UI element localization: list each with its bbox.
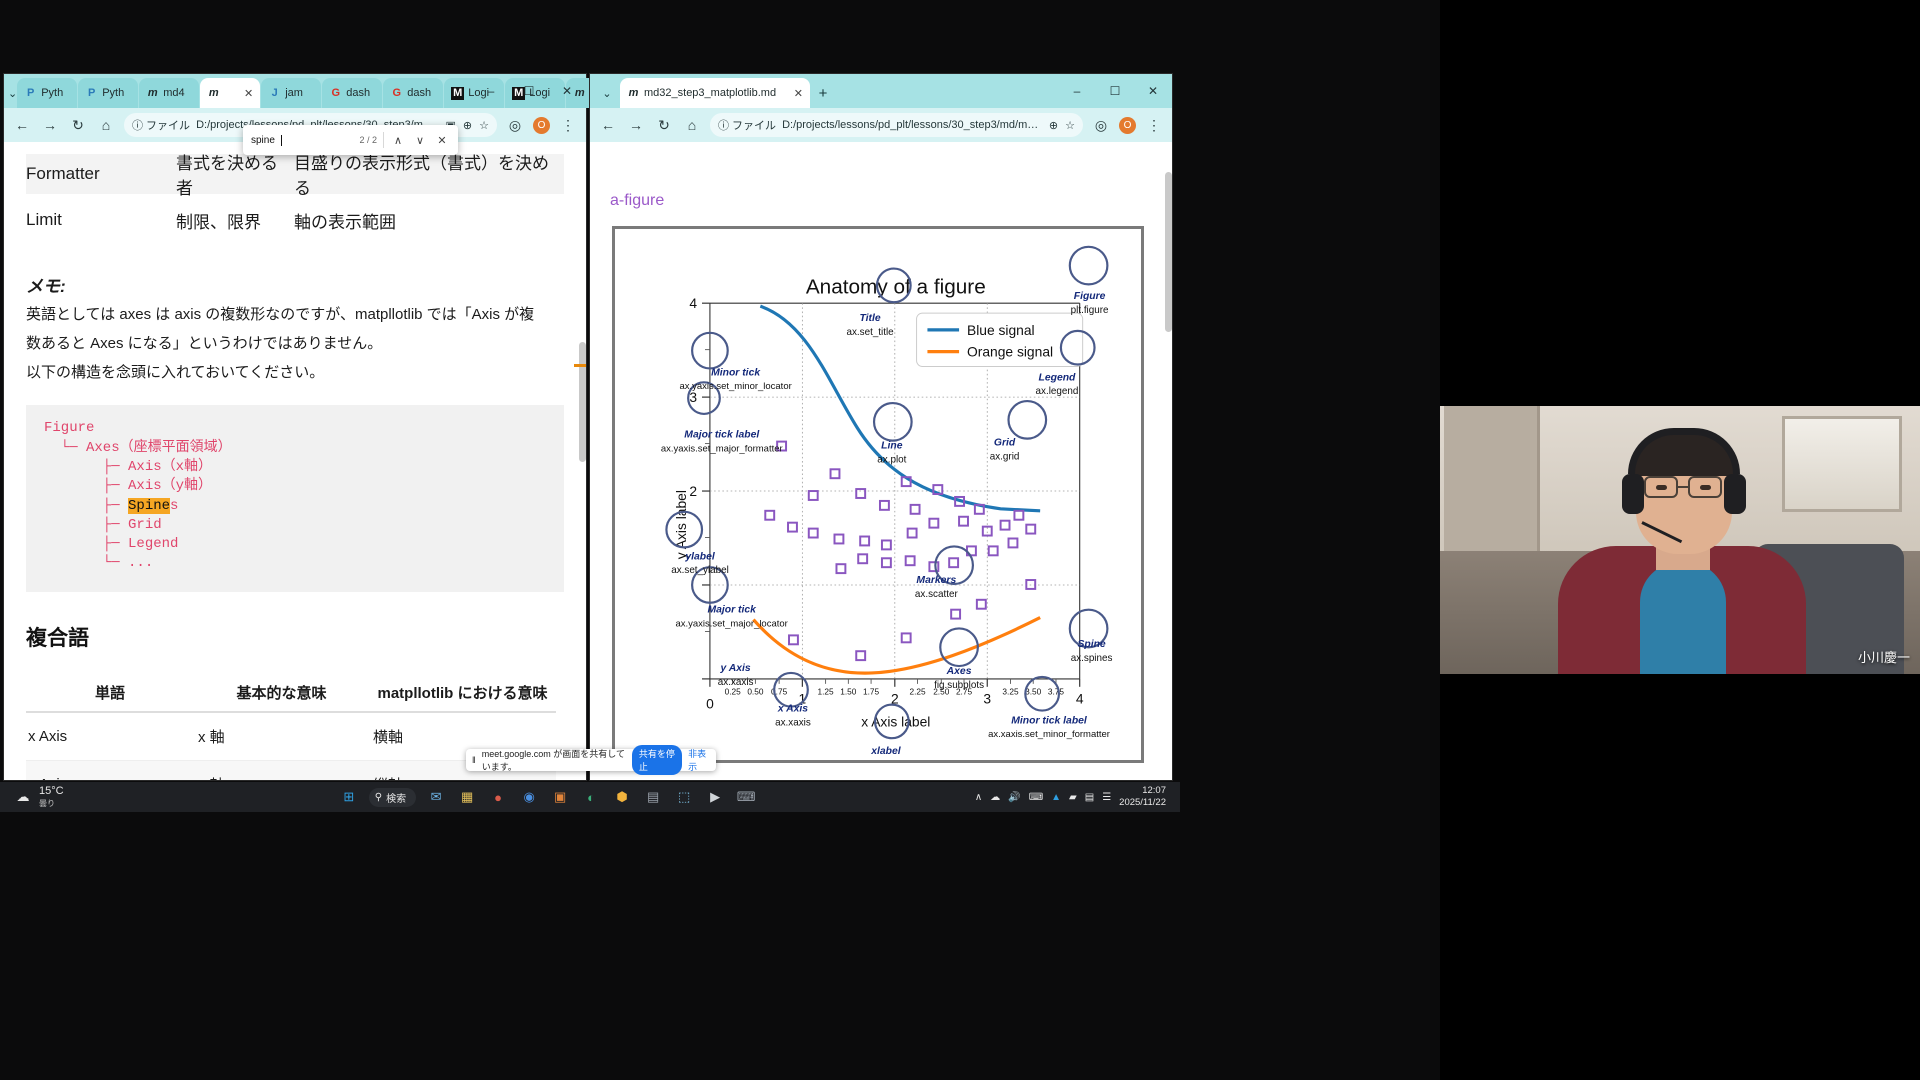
svg-text:Axes: Axes bbox=[946, 666, 972, 677]
python-icon: P bbox=[85, 87, 98, 100]
markdown-icon: m bbox=[146, 87, 159, 100]
action-center-icon[interactable]: ☰ bbox=[1102, 792, 1111, 803]
svg-text:x Axis: x Axis bbox=[777, 704, 808, 715]
forward-icon[interactable]: → bbox=[40, 115, 60, 135]
markdown-icon: m bbox=[207, 87, 220, 100]
google-icon: G bbox=[390, 87, 403, 100]
find-in-page-bar[interactable]: spine 2 / 2 ∧ ∨ ✕ bbox=[243, 125, 458, 155]
svg-text:ylabel: ylabel bbox=[684, 551, 716, 562]
minimize-button[interactable]: – bbox=[472, 74, 510, 108]
chart-title: Anatomy of a figure bbox=[806, 275, 986, 298]
svg-text:ax.yaxis.set_major_formatter: ax.yaxis.set_major_formatter bbox=[661, 443, 783, 454]
table-header-row: 単語 基本的な意味 matpllotlib における意味 bbox=[26, 674, 556, 712]
browser-tab[interactable]: J jam bbox=[261, 78, 321, 108]
right-page-content: a-figure bbox=[590, 142, 1172, 780]
tab-label: Pyth bbox=[102, 87, 124, 99]
anatomy-figure: 4 3 2 bbox=[612, 226, 1144, 763]
window-controls: – ☐ ✕ bbox=[472, 74, 586, 108]
clock-widget[interactable]: 12:07 2025/11/22 bbox=[1119, 785, 1170, 809]
screen-share-bar: ‖ meet.google.com が画面を共有しています。 共有を停止 非表示 bbox=[466, 749, 716, 771]
legend-entry-blue: Blue signal bbox=[967, 322, 1035, 338]
svg-text:ax.xaxis.set_minor_formatter: ax.xaxis.set_minor_formatter bbox=[988, 729, 1110, 740]
zoom-icon[interactable]: ⊕ bbox=[1049, 119, 1058, 132]
left-tabstrip: ⌄ P Pyth P Pyth m md4 m ✕ J jam bbox=[4, 74, 586, 108]
legend-entry-orange: Orange signal bbox=[967, 344, 1053, 360]
file-scheme-badge: ⓘ ファイル bbox=[132, 117, 190, 133]
taskbar-app-icon[interactable]: ⌨ bbox=[735, 786, 757, 808]
close-window-button[interactable]: ✕ bbox=[548, 74, 586, 108]
chart-legend: Blue signal Orange signal bbox=[917, 313, 1083, 366]
browser-tab[interactable]: P Pyth bbox=[78, 78, 138, 108]
svg-text:ax.grid: ax.grid bbox=[990, 451, 1020, 462]
code-line: ├─ Axis（x軸） bbox=[44, 459, 212, 475]
ime-indicator-icon[interactable]: ▲ bbox=[1051, 792, 1061, 803]
svg-text:Markers: Markers bbox=[916, 575, 956, 586]
maximize-button[interactable]: ☐ bbox=[1096, 74, 1134, 108]
minimize-button[interactable]: – bbox=[1058, 74, 1096, 108]
background-door bbox=[1444, 406, 1540, 570]
clock-date: 2025/11/22 bbox=[1119, 797, 1166, 809]
back-icon[interactable]: ← bbox=[12, 115, 32, 135]
compound-words-heading: 複合語 bbox=[26, 622, 564, 652]
x-axis-label: x Axis label bbox=[861, 713, 930, 729]
memo-line: 数あると Axes になる」というわけではありません。 bbox=[26, 333, 564, 355]
code-line: ├─ Legend bbox=[44, 536, 178, 552]
svg-text:0.25: 0.25 bbox=[725, 687, 742, 697]
memo-line: 以下の構造を念頭に入れておいてください。 bbox=[26, 362, 564, 384]
tab-label: md32_step3_matplotlib.md bbox=[644, 87, 776, 99]
svg-text:ax.yaxis.set_minor_locator: ax.yaxis.set_minor_locator bbox=[679, 381, 791, 392]
tab-close-icon[interactable]: ✕ bbox=[794, 87, 803, 100]
plt-meaning-cell: 目盛りの表示形式（書式）を決める bbox=[294, 149, 564, 199]
taskbar-app-icon[interactable]: ⬢ bbox=[611, 786, 633, 808]
browser-menu-icon[interactable]: ⋮ bbox=[558, 115, 578, 135]
profile-avatar[interactable]: O bbox=[1119, 117, 1136, 134]
cloud-sync-icon[interactable]: ☁ bbox=[990, 792, 1000, 803]
weather-description: 曇り bbox=[39, 798, 64, 809]
col-header-word: 単語 bbox=[26, 674, 194, 712]
meaning-cell: 書式を決める者 bbox=[176, 149, 294, 199]
svg-text:Minor tick: Minor tick bbox=[711, 367, 761, 378]
cell-basic: x 軸 bbox=[194, 712, 369, 761]
find-next-icon[interactable]: ∨ bbox=[412, 134, 428, 147]
person-eye-right bbox=[1700, 485, 1711, 490]
memo-line: 英語としては axes は axis の複数形なのですが、matpllotlib… bbox=[26, 304, 564, 326]
taskbar-app-icon[interactable]: ▶ bbox=[704, 786, 726, 808]
find-close-icon[interactable]: ✕ bbox=[434, 134, 450, 147]
svg-text:Grid: Grid bbox=[994, 438, 1016, 449]
svg-text:xlabel: xlabel bbox=[870, 746, 902, 757]
term-cell: Limit bbox=[26, 210, 176, 230]
taskbar-app-icon[interactable]: ✉ bbox=[425, 786, 447, 808]
x-tick-label: 3 bbox=[983, 691, 991, 707]
svg-text:y Axis: y Axis bbox=[720, 663, 751, 674]
cloud-icon: ☁ bbox=[12, 786, 34, 808]
code-line-prefix: ├─ bbox=[44, 498, 128, 514]
svg-text:ax.scatter: ax.scatter bbox=[915, 589, 959, 600]
browser-tab-active[interactable]: m md32_step3_matplotlib.md ✕ bbox=[620, 78, 810, 108]
svg-text:plt.figure: plt.figure bbox=[1071, 305, 1109, 316]
share-status-text: meet.google.com が画面を共有しています。 bbox=[482, 747, 626, 773]
stop-sharing-button[interactable]: 共有を停止 bbox=[632, 745, 682, 775]
tab-label: dash bbox=[346, 87, 370, 99]
file-scheme-badge: ⓘ ファイル bbox=[718, 117, 776, 133]
x-tick-label: 4 bbox=[1076, 691, 1084, 707]
markdown-document: Formatter 書式を決める者 目盛りの表示形式（書式）を決める Limit… bbox=[4, 142, 586, 780]
x-tick-label: 0 bbox=[706, 696, 714, 712]
svg-text:Major tick: Major tick bbox=[707, 605, 757, 616]
svg-text:Legend: Legend bbox=[1039, 372, 1077, 383]
clock-time: 12:07 bbox=[1119, 785, 1166, 797]
browser-tab[interactable]: G dash bbox=[322, 78, 382, 108]
maximize-button[interactable]: ☐ bbox=[510, 74, 548, 108]
code-line: └─ ... bbox=[44, 555, 153, 571]
svg-text:Spine: Spine bbox=[1077, 639, 1105, 650]
svg-text:Line: Line bbox=[881, 441, 903, 452]
tab-list-dropdown-icon[interactable]: ⌄ bbox=[594, 78, 620, 108]
taskbar-search-box[interactable]: ⚲ 検索 bbox=[369, 788, 416, 807]
meaning-cell: 制限、限界 bbox=[176, 208, 294, 233]
find-input[interactable]: spine bbox=[251, 135, 275, 146]
taskbar-app-icon[interactable]: ● bbox=[487, 786, 509, 808]
svg-text:ax.xaxis: ax.xaxis bbox=[775, 717, 811, 728]
anatomy-figure-svg: 4 3 2 bbox=[615, 229, 1141, 760]
screen-root: ⌄ P Pyth P Pyth m md4 m ✕ J jam bbox=[0, 0, 1920, 1080]
search-highlight: Spine bbox=[128, 498, 170, 514]
col-header-plt: matpllotlib における意味 bbox=[369, 674, 556, 712]
browser-menu-icon[interactable]: ⋮ bbox=[1144, 115, 1164, 135]
windows-taskbar: ☁ 15°C 曇り ⊞ ⚲ 検索 ✉ ▦ ● ◉ ▣ ◐ ⬢ ▤ ⬚ ▶ ⌨ ∧ bbox=[0, 782, 1180, 812]
code-line-suffix: s bbox=[170, 498, 178, 514]
svg-text:3.50: 3.50 bbox=[1025, 687, 1042, 697]
home-icon[interactable]: ⌂ bbox=[96, 115, 116, 135]
tab-label: md4 bbox=[163, 87, 184, 99]
network-icon[interactable]: ▰ bbox=[1069, 792, 1077, 803]
vertical-scrollbar-thumb[interactable] bbox=[579, 342, 586, 462]
right-toolbar: ← → ↻ ⌂ ⓘ ファイル D:/projects/lessons/pd_pl… bbox=[590, 108, 1172, 142]
logitech-icon: M bbox=[451, 87, 464, 100]
cell-word: x Axis bbox=[26, 712, 194, 761]
cell-word: y Axis bbox=[26, 760, 194, 780]
person-shirt bbox=[1640, 562, 1726, 674]
close-window-button[interactable]: ✕ bbox=[1134, 74, 1172, 108]
taskbar-app-icon[interactable]: ▤ bbox=[642, 786, 664, 808]
taskbar-app-icon[interactable]: ⬚ bbox=[673, 786, 695, 808]
search-icon: ⚲ bbox=[375, 792, 382, 803]
left-page-content: Formatter 書式を決める者 目盛りの表示形式（書式）を決める Limit… bbox=[4, 142, 586, 780]
svg-text:ax.yaxis.set_major_locator: ax.yaxis.set_major_locator bbox=[676, 618, 788, 629]
headset-earcup-right bbox=[1724, 474, 1746, 514]
svg-text:1.50: 1.50 bbox=[840, 687, 857, 697]
right-browser-window: ⌄ m md32_step3_matplotlib.md ✕ + – ☐ ✕ ←… bbox=[590, 74, 1172, 780]
table-row: Formatter 書式を決める者 目盛りの表示形式（書式）を決める bbox=[26, 154, 564, 194]
browser-tab-active[interactable]: m ✕ bbox=[200, 78, 260, 108]
taskbar-app-icon[interactable]: ◐ bbox=[580, 786, 602, 808]
show-hidden-icons-icon[interactable]: ∧ bbox=[975, 792, 982, 803]
svg-text:1.75: 1.75 bbox=[863, 687, 880, 697]
bookmark-star-icon[interactable]: ☆ bbox=[1065, 119, 1075, 132]
plt-meaning-cell: 軸の表示範囲 bbox=[294, 208, 564, 233]
reload-icon[interactable]: ↻ bbox=[68, 115, 88, 135]
address-bar[interactable]: ⓘ ファイル D:/projects/lessons/pd_plt/lesson… bbox=[710, 113, 1083, 137]
browser-tab[interactable]: m md4 bbox=[139, 78, 199, 108]
keyboard-icon[interactable]: ⌨ bbox=[1029, 792, 1043, 803]
weather-widget[interactable]: ☁ 15°C 曇り bbox=[0, 785, 120, 808]
start-button-icon[interactable]: ⊞ bbox=[338, 786, 360, 808]
svg-text:ax.xaxis: ax.xaxis bbox=[718, 677, 754, 688]
browser-tab[interactable]: P Pyth bbox=[17, 78, 77, 108]
svg-text:Minor tick label: Minor tick label bbox=[1011, 715, 1088, 726]
taskbar-app-icon[interactable]: ▣ bbox=[549, 786, 571, 808]
screenshot-icon[interactable]: ◎ bbox=[1091, 115, 1111, 135]
col-header-basic: 基本的な意味 bbox=[194, 674, 369, 712]
bookmark-star-icon[interactable]: ☆ bbox=[479, 119, 489, 132]
jamboard-icon: J bbox=[268, 87, 281, 100]
tab-label: dash bbox=[407, 87, 431, 99]
person-eye-left bbox=[1656, 485, 1667, 490]
anchor-link-a-figure[interactable]: a-figure bbox=[610, 192, 664, 210]
video-call-panel: 小川慶一 bbox=[1440, 0, 1920, 1080]
term-cell: Formatter bbox=[26, 164, 176, 184]
svg-text:ax.plot: ax.plot bbox=[877, 454, 906, 465]
google-icon: G bbox=[329, 87, 342, 100]
right-tabstrip: ⌄ m md32_step3_matplotlib.md ✕ + – ☐ ✕ bbox=[590, 74, 1172, 108]
browser-tab[interactable]: G dash bbox=[383, 78, 443, 108]
window-controls: – ☐ ✕ bbox=[1058, 74, 1172, 108]
zoom-icon[interactable]: ⊕ bbox=[463, 119, 472, 132]
find-match-marker bbox=[574, 364, 586, 367]
taskbar-app-icon[interactable]: ▦ bbox=[456, 786, 478, 808]
svg-text:0.50: 0.50 bbox=[747, 687, 764, 697]
svg-text:ax.set_title: ax.set_title bbox=[846, 327, 894, 338]
vertical-scrollbar-thumb[interactable] bbox=[1165, 172, 1172, 332]
cell-basic: y 軸 bbox=[194, 760, 369, 780]
screenshot-icon[interactable]: ◎ bbox=[505, 115, 525, 135]
battery-icon[interactable]: ▤ bbox=[1085, 792, 1094, 803]
svg-text:3.25: 3.25 bbox=[1002, 687, 1019, 697]
svg-text:3.75: 3.75 bbox=[1048, 687, 1065, 697]
python-icon: P bbox=[24, 87, 37, 100]
taskbar-app-icon[interactable]: ◉ bbox=[518, 786, 540, 808]
code-line: └─ Axes（座標平面領域） bbox=[44, 440, 232, 456]
svg-text:1.25: 1.25 bbox=[818, 687, 835, 697]
y-tick-label: 2 bbox=[689, 483, 697, 499]
home-icon[interactable]: ⌂ bbox=[682, 115, 702, 135]
code-line: Figure bbox=[44, 420, 94, 436]
participant-name-label: 小川慶一 bbox=[1858, 647, 1910, 666]
tab-label: Pyth bbox=[41, 87, 63, 99]
taskbar-center: ⊞ ⚲ 検索 ✉ ▦ ● ◉ ▣ ◐ ⬢ ▤ ⬚ ▶ ⌨ bbox=[120, 786, 975, 808]
svg-text:Figure: Figure bbox=[1074, 291, 1106, 302]
svg-text:ax.legend: ax.legend bbox=[1036, 386, 1079, 397]
reload-icon[interactable]: ↻ bbox=[654, 115, 674, 135]
find-previous-icon[interactable]: ∧ bbox=[390, 134, 406, 147]
structure-code-block: Figure └─ Axes（座標平面領域） ├─ Axis（x軸） ├─ Ax… bbox=[26, 405, 564, 592]
tab-close-icon[interactable]: ✕ bbox=[244, 87, 253, 100]
profile-avatar[interactable]: O bbox=[533, 117, 550, 134]
tab-label: jam bbox=[285, 87, 303, 99]
weather-temperature: 15°C bbox=[39, 785, 64, 797]
drag-handle-icon[interactable]: ‖ bbox=[472, 755, 476, 765]
search-placeholder: 検索 bbox=[386, 790, 406, 805]
svg-text:Title: Title bbox=[860, 313, 881, 324]
svg-text:ax.spines: ax.spines bbox=[1071, 653, 1113, 664]
headset-earcup-left bbox=[1622, 474, 1644, 514]
divider bbox=[383, 132, 384, 148]
svg-text:ax.set_ylabel: ax.set_ylabel bbox=[671, 565, 729, 576]
svg-text:2.25: 2.25 bbox=[909, 687, 926, 697]
participant-video-tile[interactable]: 小川慶一 bbox=[1440, 406, 1920, 674]
address-bar-url: D:/projects/lessons/pd_plt/lessons/30_st… bbox=[782, 119, 1043, 131]
background-window bbox=[1782, 416, 1902, 512]
back-icon[interactable]: ← bbox=[598, 115, 618, 135]
svg-text:Major tick label: Major tick label bbox=[684, 430, 760, 441]
y-axis-label: y Axis label bbox=[673, 490, 689, 559]
new-tab-button[interactable]: + bbox=[811, 78, 835, 108]
volume-icon[interactable]: 🔊 bbox=[1008, 792, 1020, 803]
markdown-icon: m bbox=[627, 87, 640, 100]
code-line: ├─ Grid bbox=[44, 517, 162, 533]
taskbar-tray: ∧ ☁ 🔊 ⌨ ▲ ▰ ▤ ☰ 12:07 2025/11/22 bbox=[975, 785, 1180, 809]
forward-icon[interactable]: → bbox=[626, 115, 646, 135]
glasses-bridge bbox=[1678, 486, 1688, 488]
svg-text:fig.subplots: fig.subplots bbox=[934, 680, 984, 691]
text-caret bbox=[281, 135, 282, 146]
table-row: Limit 制限、限界 軸の表示範囲 bbox=[26, 200, 564, 240]
find-match-count: 2 / 2 bbox=[359, 135, 377, 145]
tab-list-dropdown-icon[interactable]: ⌄ bbox=[8, 78, 17, 108]
memo-heading: メモ: bbox=[26, 272, 564, 297]
code-line: ├─ Axis（y軸） bbox=[44, 478, 212, 494]
left-browser-window: ⌄ P Pyth P Pyth m md4 m ✕ J jam bbox=[4, 74, 586, 780]
hide-button[interactable]: 非表示 bbox=[688, 747, 710, 773]
y-tick-label: 4 bbox=[689, 295, 697, 311]
